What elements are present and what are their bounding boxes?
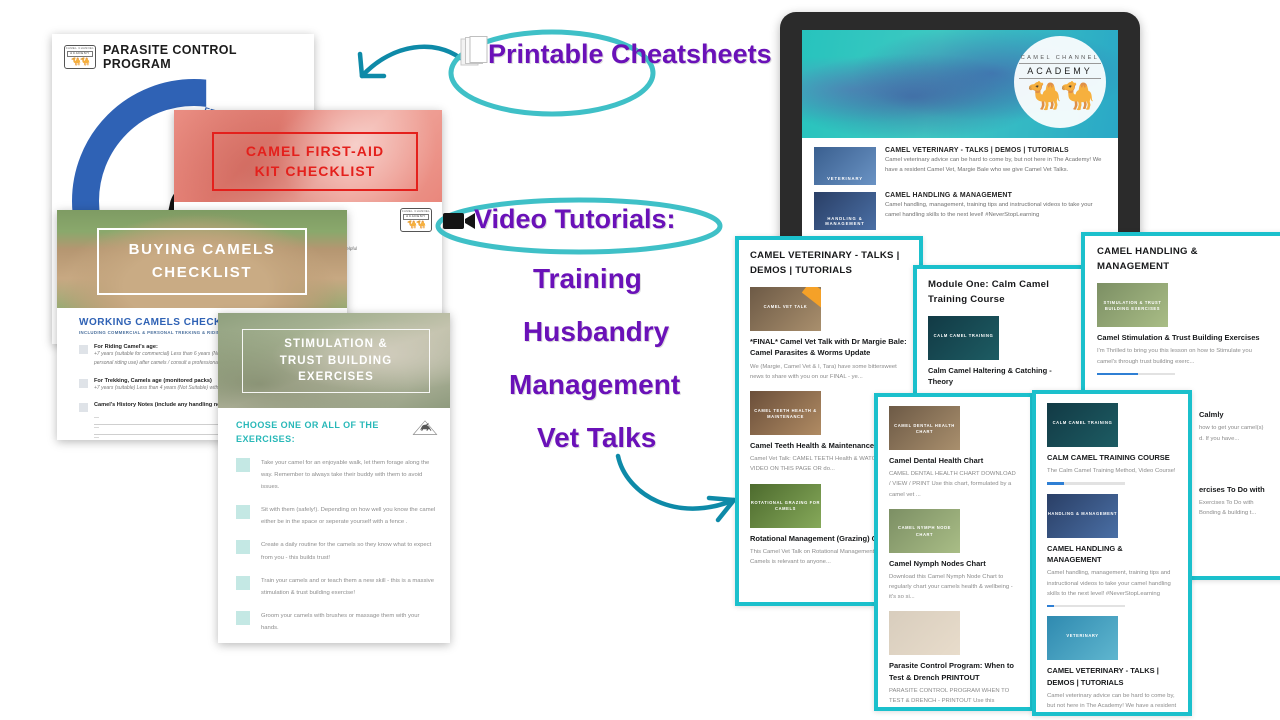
thumbnail[interactable]: CALM CAMEL TRAINING [1047, 403, 1118, 447]
list-item[interactable]: CAMEL VET TALK *FINAL* Camel Vet Talk wi… [750, 287, 908, 382]
thumbnail[interactable]: VETERINARY [1047, 616, 1118, 660]
checkbox-icon[interactable] [236, 505, 250, 519]
list-item[interactable]: HANDLING & MANAGEMENT CAMEL HANDLING & M… [1047, 494, 1177, 607]
list-item-title[interactable]: CAMEL HANDLING & MANAGEMENT [1047, 543, 1177, 566]
academy-logo-icon: CAMEL CHANNEL ACADEMY 🐪🐪 [64, 45, 96, 69]
exercise-row[interactable]: Sit with them (safely!). Depending on ho… [236, 504, 436, 528]
topic-husbandry: Husbandry [523, 316, 669, 348]
list-item-title[interactable]: *FINAL* Camel Vet Talk with Dr Margie Ba… [750, 336, 908, 359]
thumbnail[interactable]: VETERINARY [814, 147, 876, 185]
academy-logo-icon: CAMEL CHANNEL ACADEMY 🐪🐪 [400, 208, 432, 232]
list-item[interactable]: HANDLING & MANAGEMENT CAMEL HANDLING & M… [814, 192, 1108, 230]
cheatsheets-label: Printable Cheatsheets [488, 40, 772, 68]
exercise-row[interactable]: Take your camel for an enjoyable walk, l… [236, 457, 436, 493]
checkbox-icon[interactable] [236, 458, 250, 472]
list-item-desc: PARASITE CONTROL PROGRAM WHEN TO TEST & … [889, 686, 1019, 711]
camel-silhouettes-icon: 🐪🐪 [407, 221, 425, 229]
list-item-title[interactable]: Calm Camel Haltering & Catching - Theory [928, 365, 1078, 388]
section-title: CHOOSE ONE OR ALL OF THE EXERCISES: [236, 419, 386, 446]
stimulation-body: CHOOSE ONE OR ALL OF THE EXERCISES: Take… [218, 408, 450, 634]
list-item-title[interactable]: CAMEL VETERINARY - TALKS | DEMOS | TUTOR… [885, 147, 1108, 154]
first-aid-hero-image: CAMEL FIRST-AID KIT CHECKLIST [174, 110, 442, 202]
list-item-title[interactable]: Camel Stimulation & Trust Building Exerc… [1097, 332, 1269, 343]
list-item[interactable]: CAMEL NYMPH NODE CHART Camel Nymph Nodes… [889, 509, 1019, 603]
list-item-desc: Camel veterinary advice can be hard to c… [885, 156, 1108, 175]
list-item-desc: We (Margie, Camel Vet & I, Tara) have so… [750, 362, 908, 382]
list-item-desc: how to get your camel(s) d. If you have.… [1199, 423, 1269, 443]
list-item-title[interactable]: CALM CAMEL TRAINING COURSE [1047, 452, 1177, 463]
list-item[interactable]: STIMULATION & TRUST BUILDING EXERCISES C… [1097, 283, 1269, 375]
thumbnail[interactable]: HANDLING & MANAGEMENT [1047, 494, 1118, 538]
progress-bar [1097, 373, 1175, 376]
papers-icon [460, 36, 488, 69]
list-item[interactable]: CALM CAMEL TRAINING CALM CAMEL TRAINING … [1047, 403, 1177, 485]
list-item-desc: CAMEL DENTAL HEALTH CHART DOWNLOAD / VIE… [889, 469, 1019, 499]
academy-hero-banner: CAMEL CHANNEL ACADEMY 🐪🐪 [802, 30, 1118, 138]
list-item[interactable]: VETERINARY CAMEL VETERINARY - TALKS | DE… [1047, 616, 1177, 716]
list-item[interactable]: CAMEL DENTAL HEALTH CHART Camel Dental H… [889, 406, 1019, 500]
list-item[interactable]: Parasite Control Program: When to Test &… [889, 611, 1019, 711]
list-item-desc: I'm Thrilled to bring you this lesson on… [1097, 346, 1269, 366]
thumbnail[interactable]: CAMEL VET TALK [750, 287, 821, 331]
checkbox-icon[interactable] [79, 403, 88, 412]
exercise-row[interactable]: Groom your camels with brushes or massag… [236, 610, 436, 634]
thumbnail[interactable]: ROTATIONAL GRAZING FOR CAMELS [750, 484, 821, 528]
stimulation-hero-image: STIMULATION & TRUST BUILDING EXERCISES [218, 313, 450, 408]
topic-training: Training [533, 263, 642, 295]
checkbox-icon[interactable] [236, 611, 250, 625]
exercise-row[interactable]: Train your camels and or teach them a ne… [236, 575, 436, 599]
list-item-title[interactable]: Parasite Control Program: When to Test &… [889, 660, 1019, 683]
thumbnail[interactable]: CALM CAMEL TRAINING [928, 316, 999, 360]
academy-logo-icon [412, 418, 438, 438]
panel-module-one: Module One: Calm Camel Training Course C… [913, 265, 1093, 409]
first-aid-title-box: CAMEL FIRST-AID KIT CHECKLIST [212, 132, 418, 191]
checkbox-icon[interactable] [236, 540, 250, 554]
panel-heading: CAMEL VETERINARY - TALKS | DEMOS | TUTOR… [750, 249, 908, 278]
thumbnail[interactable]: CAMEL DENTAL HEALTH CHART [889, 406, 960, 450]
checkbox-icon[interactable] [79, 379, 88, 388]
thumbnail[interactable] [889, 611, 960, 655]
list-item-title[interactable]: ercises To Do with [1199, 484, 1269, 495]
camel-silhouettes-icon: 🐪🐪 [71, 58, 89, 66]
list-item-title[interactable]: Calmly [1199, 409, 1269, 420]
list-item-desc: The Calm Camel Training Method, Video Co… [1047, 466, 1177, 476]
thumbnail[interactable]: CAMEL TEETH HEALTH & MAINTENANCE [750, 391, 821, 435]
list-item-title[interactable]: Camel Nymph Nodes Chart [889, 558, 1019, 569]
camel-silhouettes-icon: 🐪🐪 [1027, 82, 1093, 110]
buying-hero-image: BUYING CAMELS CHECKLIST [57, 210, 347, 308]
panel-heading: Module One: Calm Camel Training Course [928, 278, 1078, 307]
panel-course-library: CALM CAMEL TRAINING CALM CAMEL TRAINING … [1032, 390, 1192, 716]
academy-logo-icon: CAMEL CHANNEL ACADEMY 🐪🐪 [1014, 36, 1106, 128]
panel-heading: CAMEL HANDLING & MANAGEMENT [1097, 245, 1269, 274]
checkbox-icon[interactable] [236, 576, 250, 590]
checkbox-icon[interactable] [79, 345, 88, 354]
video-tutorials-annotation: Video Tutorials: [434, 197, 724, 255]
thumbnail[interactable]: STIMULATION & TRUST BUILDING EXERCISES [1097, 283, 1168, 327]
list-item-desc: Camel handling, management, training tip… [1047, 568, 1177, 598]
panel-printable-charts: CAMEL DENTAL HEALTH CHART Camel Dental H… [874, 393, 1034, 711]
progress-bar [1047, 482, 1125, 485]
list-item-desc: Exercises To Do with Bonding & building … [1199, 498, 1269, 518]
collage-canvas: CAMEL CHANNEL ACADEMY 🐪🐪 PARASITE CONTRO… [0, 0, 1280, 720]
thumbnail[interactable]: HANDLING & MANAGEMENT [814, 192, 876, 230]
video-tutorials-label: Video Tutorials: [474, 205, 676, 233]
progress-bar [1047, 605, 1125, 608]
list-item[interactable]: VETERINARY CAMEL VETERINARY - TALKS | DE… [814, 147, 1108, 185]
parasite-sheet-header: CAMEL CHANNEL ACADEMY 🐪🐪 PARASITE CONTRO… [52, 34, 314, 73]
list-item-title[interactable]: CAMEL HANDLING & MANAGEMENT [885, 192, 1108, 199]
page-title: PARASITE CONTROL PROGRAM [103, 43, 304, 71]
exercise-row[interactable]: Create a daily routine for the camels so… [236, 539, 436, 563]
list-item-title[interactable]: CAMEL VETERINARY - TALKS | DEMOS | TUTOR… [1047, 665, 1177, 688]
buying-title-box: BUYING CAMELS CHECKLIST [97, 228, 307, 295]
list-item-title[interactable]: Camel Dental Health Chart [889, 455, 1019, 466]
topic-management: Management [509, 369, 680, 401]
list-item-desc: Camel handling, management, training tip… [885, 201, 1108, 220]
list-item-desc: Download this Camel Nymph Node Chart to … [889, 572, 1019, 602]
list-item-desc: Camel veterinary advice can be hard to c… [1047, 691, 1177, 716]
stimulation-trust-building-exercises-sheet: STIMULATION & TRUST BUILDING EXERCISES C… [218, 313, 450, 643]
stimulation-title-box: STIMULATION & TRUST BUILDING EXERCISES [242, 329, 430, 393]
course-list: VETERINARY CAMEL VETERINARY - TALKS | DE… [802, 138, 1118, 230]
video-camera-icon [442, 209, 476, 233]
thumbnail[interactable]: CAMEL NYMPH NODE CHART [889, 509, 960, 553]
